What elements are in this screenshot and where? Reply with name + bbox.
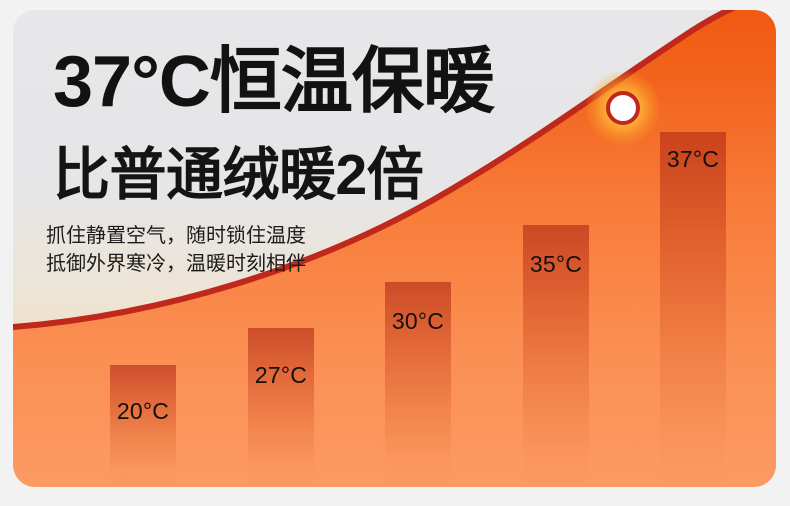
promo-card: 20°C 27°C 30°C 35°C 37°C 37°C恒温保暖 比普通绒暖2… bbox=[13, 10, 776, 487]
curve-marker-dot bbox=[606, 91, 640, 125]
bar-label-1: 20°C bbox=[83, 398, 203, 425]
description-line-2: 抵御外界寒冷，温暖时刻相伴 bbox=[46, 250, 306, 278]
bar-label-3: 30°C bbox=[358, 308, 478, 335]
description-block: 抓住静置空气，随时锁住温度 抵御外界寒冷，温暖时刻相伴 bbox=[46, 222, 306, 278]
bar-5 bbox=[660, 132, 726, 487]
description-line-1: 抓住静置空气，随时锁住温度 bbox=[46, 222, 306, 250]
bar-2 bbox=[248, 328, 314, 487]
page-title: 37°C恒温保暖 bbox=[53, 44, 494, 120]
page-subtitle: 比普通绒暖2倍 bbox=[53, 144, 423, 206]
bar-label-4: 35°C bbox=[496, 251, 616, 278]
bar-label-5: 37°C bbox=[633, 146, 753, 173]
bar-label-2: 27°C bbox=[221, 362, 341, 389]
bar-1 bbox=[110, 365, 176, 487]
screenshot-root: 20°C 27°C 30°C 35°C 37°C 37°C恒温保暖 比普通绒暖2… bbox=[0, 0, 790, 506]
